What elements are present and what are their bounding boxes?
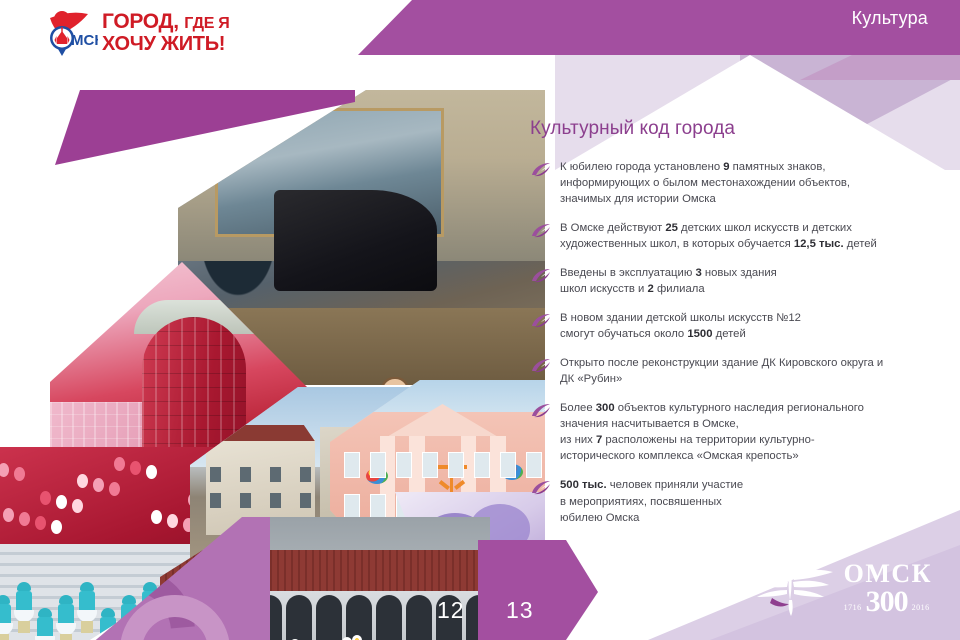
bullet-text-run: памятных знаков, — [730, 161, 826, 173]
balloon — [167, 514, 178, 528]
bullet-line: В Омске действуют 25 детских школ искусс… — [560, 220, 877, 236]
bullet-text-run: ДК «Рубин» — [560, 373, 622, 385]
bullet-item: В Омске действуют 25 детских школ искусс… — [530, 220, 950, 252]
bullet-line: В новом здании детской школы искусств №1… — [560, 310, 801, 326]
arcade-arch — [286, 595, 312, 640]
balloon — [146, 465, 157, 479]
balloon — [56, 495, 67, 509]
window — [240, 493, 251, 508]
section-title: Культурный код города — [530, 118, 950, 140]
window — [422, 452, 438, 478]
bullet-line: смогут обучаться около 1500 детей — [560, 326, 801, 342]
bullet-text-run: юбилею Омска — [560, 512, 639, 524]
slogan: ГОРОД, ГДЕ Я ХОЧУ ЖИТЬ! — [102, 8, 230, 56]
omsk-year-from: 1716 — [844, 604, 862, 617]
bullet-text-run: детей — [844, 238, 877, 250]
bullet-text-run: человек приняли участие — [607, 479, 744, 491]
window — [270, 467, 281, 482]
window — [210, 493, 221, 508]
bullet-line: 500 тыс. человек приняли участие — [560, 477, 743, 493]
bullet-line: художественных школ, в которых обучается… — [560, 236, 877, 252]
page-number-left: 12 — [437, 597, 465, 624]
bullet-text-run: информирующих о былом местонахождении об… — [560, 177, 850, 189]
window — [448, 452, 464, 478]
bullet-line: Введены в эксплуатацию 3 новых здания — [560, 265, 777, 281]
bullet-text-run: Введены в эксплуатацию — [560, 267, 695, 279]
slogan-line-2: ХОЧУ ЖИТЬ! — [102, 33, 230, 56]
bullet-text-run: новых здания — [702, 267, 777, 279]
bullet-text: К юбилею города установлено 9 памятных з… — [560, 159, 850, 207]
balloon — [35, 516, 46, 530]
majorette-dancer — [16, 582, 32, 632]
purple-leaf-icon — [530, 313, 552, 329]
omsk-msk-logo-icon: МСК — [36, 8, 98, 64]
balloon — [14, 467, 25, 481]
balloon — [3, 508, 14, 522]
bullet-line: Открыто после реконструкции здание ДК Ки… — [560, 355, 883, 371]
arcade-arch — [346, 595, 372, 640]
omsk-word: ОМСК — [844, 561, 932, 587]
bullet-text-run: из них — [560, 434, 596, 446]
window — [370, 452, 386, 478]
arcade-arch — [376, 595, 402, 640]
balloon — [40, 491, 51, 505]
bullet-item: 500 тыс. человек приняли участиев меропр… — [530, 477, 950, 525]
balloon — [114, 457, 125, 471]
slide-page: Культура МСК Г — [0, 0, 960, 640]
arcade-arch — [316, 595, 342, 640]
omsk-year-to: 2016 — [912, 604, 930, 617]
grand-piano — [274, 190, 437, 290]
bullet-text-run: В новом здании детской школы искусств №1… — [560, 312, 801, 324]
slogan-word-gdeya: ГДЕ Я — [184, 15, 229, 32]
balloon — [19, 512, 30, 526]
window — [300, 467, 311, 482]
bullet-text-run: значимых для истории Омска — [560, 193, 716, 205]
bullet-text-run: значения насчитывается в Омске, — [560, 418, 739, 430]
bullet-text-run: объектов культурного наследия региональн… — [615, 402, 864, 414]
bullet-text-run: исторического комплекса «Омская крепость… — [560, 450, 799, 462]
omsk-300-wordmark: ОМСК 1716 300 2016 — [844, 561, 932, 617]
purple-leaf-icon — [530, 403, 552, 419]
bullet-item: В новом здании детской школы искусств №1… — [530, 310, 950, 342]
bullet-text-run: К юбилею города установлено — [560, 161, 723, 173]
bullet-text: 500 тыс. человек приняли участиев меропр… — [560, 477, 743, 525]
bullet-item: Открыто после реконструкции здание ДК Ки… — [530, 355, 950, 387]
bullet-line: школ искусств и 2 филиала — [560, 281, 777, 297]
arcade-arch — [406, 595, 432, 640]
purple-leaf-icon — [530, 480, 552, 496]
slogan-word-gorod: ГОРОД, — [102, 10, 179, 33]
window — [500, 452, 516, 478]
bullet-item: Более 300 объектов культурного наследия … — [530, 400, 950, 464]
majorette-dancer — [79, 582, 95, 632]
bullet-text-run: детей — [712, 328, 745, 340]
omsk-300-logo: ОМСК 1716 300 2016 — [744, 560, 932, 618]
window — [396, 452, 412, 478]
bullet-text-run: Более — [560, 402, 596, 414]
bullet-text-run: в мероприятиях, посвяшенных — [560, 496, 722, 508]
bullet-line: значимых для истории Омска — [560, 191, 850, 207]
bullet-text-run: художественных школ, в которых обучается — [560, 238, 794, 250]
brand-lockup: МСК ГОРОД, ГДЕ Я ХОЧУ ЖИТЬ! — [36, 8, 230, 64]
window — [210, 467, 221, 482]
window — [240, 467, 251, 482]
page-number-badge — [478, 540, 598, 640]
window — [474, 452, 490, 478]
bullet-text: Открыто после реконструкции здание ДК Ки… — [560, 355, 883, 387]
majorette-dancer — [58, 595, 74, 640]
majorette-dancer — [0, 595, 11, 640]
page-title: Культура — [852, 8, 928, 29]
balloon — [109, 482, 120, 496]
bullet-highlight-value: 500 тыс. — [560, 479, 607, 491]
logo-text: МСК — [71, 32, 98, 49]
bullet-line: Более 300 объектов культурного наследия … — [560, 400, 864, 416]
balloon — [77, 474, 88, 488]
balloon — [51, 520, 62, 534]
bullet-highlight-value: 25 — [665, 222, 678, 234]
content-panel: Культурный код города К юбилею города ус… — [530, 118, 950, 526]
page-number-right: 13 — [506, 597, 534, 624]
bullet-line: исторического комплекса «Омская крепость… — [560, 448, 864, 464]
bullet-text: Введены в эксплуатацию 3 новых зданияшко… — [560, 265, 777, 297]
bullet-text-run: филиала — [654, 283, 705, 295]
balloon — [151, 510, 162, 524]
bullet-line: значения насчитывается в Омске, — [560, 416, 864, 432]
majorette-dancer — [37, 608, 53, 640]
purple-leaf-icon — [530, 268, 552, 284]
bullet-text-run: В Омске действуют — [560, 222, 665, 234]
bullet-text-run: детских школ искусств и детских — [678, 222, 852, 234]
window — [344, 452, 360, 478]
bullet-text: Более 300 объектов культурного наследия … — [560, 400, 864, 464]
omsk-number: 300 — [866, 587, 908, 617]
purple-leaf-icon — [530, 223, 552, 239]
bullet-line: К юбилею города установлено 9 памятных з… — [560, 159, 850, 175]
bullet-line: из них 7 расположены на территории культ… — [560, 432, 864, 448]
bullet-line: информирующих о былом местонахождении об… — [560, 175, 850, 191]
bullet-line: юбилею Омска — [560, 510, 743, 526]
slogan-line-1: ГОРОД, ГДЕ Я — [102, 11, 230, 33]
bullet-list: К юбилею города установлено 9 памятных з… — [530, 159, 950, 526]
bullet-highlight-value: 1500 — [687, 328, 712, 340]
bullet-text-run: смогут обучаться около — [560, 328, 687, 340]
bullet-item: Введены в эксплуатацию 3 новых зданияшко… — [530, 265, 950, 297]
bullet-text: В новом здании детской школы искусств №1… — [560, 310, 801, 342]
balloon — [72, 499, 83, 513]
photo-collage — [0, 62, 545, 640]
bullet-item: К юбилею города установлено 9 памятных з… — [530, 159, 950, 207]
balloon — [130, 461, 141, 475]
balloon — [93, 478, 104, 492]
window — [300, 493, 311, 508]
bullet-highlight-value: 300 — [596, 402, 615, 414]
bullet-text-run: школ искусств и — [560, 283, 648, 295]
window — [370, 494, 386, 520]
purple-leaf-icon — [530, 162, 552, 178]
bullet-text-run: расположены на территории культурно- — [602, 434, 814, 446]
daisy-flower — [352, 635, 362, 640]
bullet-text: В Омске действуют 25 детских школ искусс… — [560, 220, 877, 252]
bullet-highlight-value: 12,5 тыс. — [794, 238, 844, 250]
bullet-text-run: Открыто после реконструкции здание ДК Ки… — [560, 357, 883, 369]
purple-leaf-icon — [530, 358, 552, 374]
bullet-line: ДК «Рубин» — [560, 371, 883, 387]
window — [270, 493, 281, 508]
window — [344, 494, 360, 520]
bullet-line: в мероприятиях, посвяшенных — [560, 494, 743, 510]
omsk-300-wing-icon — [744, 560, 838, 618]
